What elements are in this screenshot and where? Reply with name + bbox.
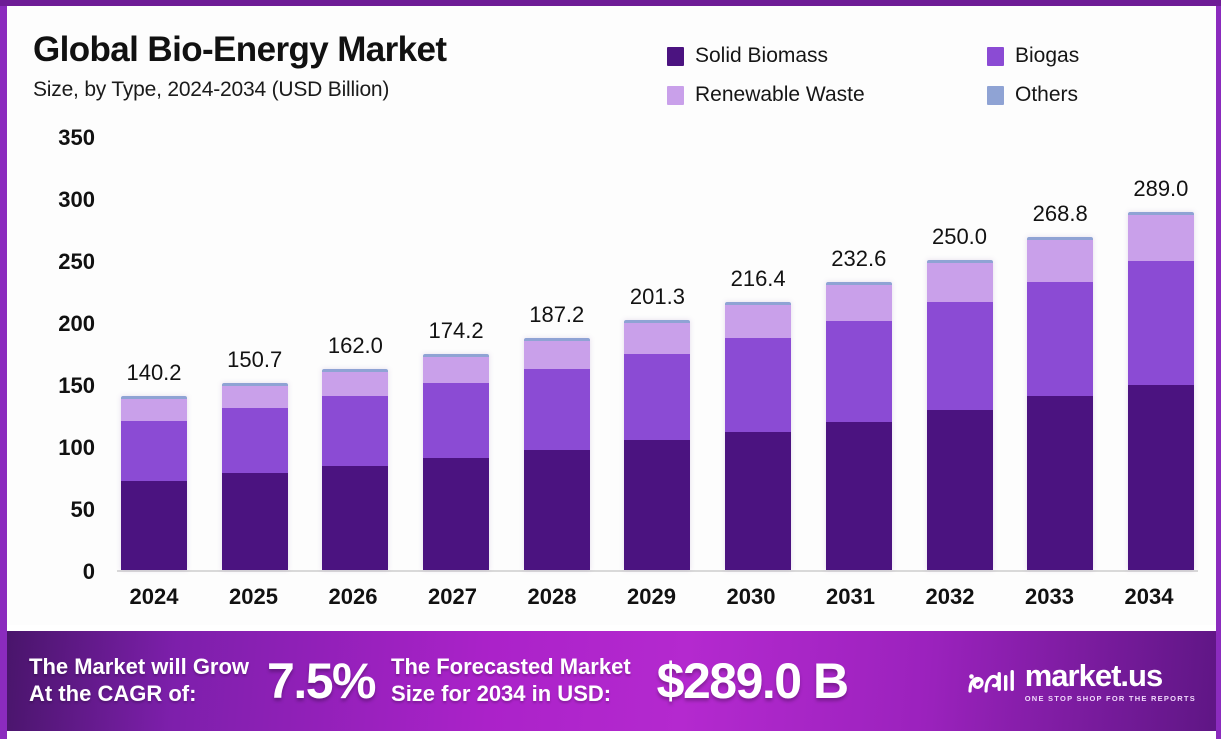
legend-label: Others <box>1015 83 1078 107</box>
bar-segment-solid-biomass[interactable] <box>322 466 388 570</box>
bar-segment-renewable-waste[interactable] <box>222 386 288 408</box>
x-axis-tick-label: 2026 <box>316 584 390 616</box>
bar-group-2033[interactable]: 268.8 <box>1023 138 1097 570</box>
x-axis-tick-label: 2031 <box>814 584 888 616</box>
bar-segment-solid-biomass[interactable] <box>927 410 993 570</box>
bar-total-label: 201.3 <box>630 284 685 310</box>
y-axis-tick-label: 0 <box>83 559 95 585</box>
legend-swatch-icon <box>987 86 1004 105</box>
bar-group-2034[interactable]: 289.0 <box>1124 138 1198 570</box>
legend-item-solid-biomass[interactable]: Solid Biomass <box>667 44 987 68</box>
bar-stack <box>524 338 590 570</box>
forecast-caption: The Forecasted Market Size for 2034 in U… <box>391 654 631 708</box>
legend-item-renewable-waste[interactable]: Renewable Waste <box>667 83 987 107</box>
bar-stack <box>826 282 892 570</box>
bar-segment-renewable-waste[interactable] <box>725 305 791 338</box>
bar-stack <box>725 302 791 570</box>
bar-segment-biogas[interactable] <box>423 383 489 458</box>
legend-swatch-icon <box>667 86 684 105</box>
bar-segment-biogas[interactable] <box>1128 261 1194 385</box>
legend-item-others[interactable]: Others <box>987 83 1207 107</box>
bar-group-2027[interactable]: 174.2 <box>419 138 493 570</box>
bar-stack <box>423 354 489 570</box>
legend-swatch-icon <box>667 47 684 66</box>
bar-segment-solid-biomass[interactable] <box>121 481 187 570</box>
y-axis-tick-label: 150 <box>58 373 95 399</box>
bar-segment-biogas[interactable] <box>927 302 993 410</box>
cagr-caption: The Market will Grow At the CAGR of: <box>29 654 249 708</box>
bar-stack <box>927 260 993 570</box>
bar-segment-solid-biomass[interactable] <box>222 473 288 570</box>
bar-segment-solid-biomass[interactable] <box>1027 396 1093 570</box>
bar-group-2030[interactable]: 216.4 <box>721 138 795 570</box>
bar-segment-renewable-waste[interactable] <box>1027 240 1093 282</box>
x-axis-tick-label: 2030 <box>714 584 788 616</box>
bar-group-2032[interactable]: 250.0 <box>923 138 997 570</box>
bar-total-label: 140.2 <box>126 360 181 386</box>
bar-segment-biogas[interactable] <box>826 321 892 422</box>
bar-stack <box>1128 212 1194 570</box>
bar-segment-solid-biomass[interactable] <box>624 440 690 570</box>
bar-group-2028[interactable]: 187.2 <box>520 138 594 570</box>
plot-area: 050100150200250300350 140.2150.7162.0174… <box>33 138 1198 572</box>
chart-subtitle: Size, by Type, 2024-2034 (USD Billion) <box>33 78 446 102</box>
x-axis-baseline <box>117 570 1198 572</box>
bar-stack <box>121 396 187 570</box>
bar-segment-solid-biomass[interactable] <box>423 458 489 570</box>
market-us-logo-icon <box>966 664 1016 698</box>
brand-tagline: ONE STOP SHOP FOR THE REPORTS <box>1025 694 1196 703</box>
forecast-caption-line2: Size for 2034 in USD: <box>391 681 611 706</box>
bar-segment-solid-biomass[interactable] <box>524 450 590 570</box>
bar-total-label: 216.4 <box>731 266 786 292</box>
bar-stack <box>624 320 690 570</box>
bar-series-group: 140.2150.7162.0174.2187.2201.3216.4232.6… <box>117 138 1198 570</box>
x-axis-tick-label: 2027 <box>416 584 490 616</box>
bar-stack <box>322 369 388 570</box>
chart-header: Global Bio-Energy Market Size, by Type, … <box>33 32 446 102</box>
bar-segment-renewable-waste[interactable] <box>121 399 187 422</box>
chart-panel: Global Bio-Energy Market Size, by Type, … <box>7 6 1216 625</box>
legend-label: Renewable Waste <box>695 83 865 107</box>
y-axis-tick-label: 250 <box>58 249 95 275</box>
bar-total-label: 162.0 <box>328 333 383 359</box>
bar-group-2029[interactable]: 201.3 <box>620 138 694 570</box>
bar-segment-biogas[interactable] <box>624 354 690 440</box>
chart-title: Global Bio-Energy Market <box>33 32 446 69</box>
left-border-stripe <box>0 0 7 739</box>
legend-label: Biogas <box>1015 44 1079 68</box>
bar-segment-biogas[interactable] <box>222 408 288 473</box>
footer-banner: The Market will Grow At the CAGR of: 7.5… <box>7 631 1216 731</box>
bar-group-2031[interactable]: 232.6 <box>822 138 896 570</box>
x-axis-tick-label: 2024 <box>117 584 191 616</box>
brand-text: market.us ONE STOP SHOP FOR THE REPORTS <box>1025 660 1196 703</box>
x-axis-tick-label: 2028 <box>515 584 589 616</box>
bar-segment-renewable-waste[interactable] <box>524 341 590 370</box>
bar-total-label: 187.2 <box>529 302 584 328</box>
brand-name: market.us <box>1025 660 1196 691</box>
bar-total-label: 150.7 <box>227 347 282 373</box>
bar-stack <box>1027 237 1093 570</box>
legend-item-biogas[interactable]: Biogas <box>987 44 1207 68</box>
bar-segment-renewable-waste[interactable] <box>826 285 892 321</box>
bar-total-label: 174.2 <box>429 318 484 344</box>
bar-total-label: 232.6 <box>831 246 886 272</box>
plot-inner: 140.2150.7162.0174.2187.2201.3216.4232.6… <box>117 138 1198 572</box>
x-axis-tick-label: 2025 <box>217 584 291 616</box>
bar-segment-biogas[interactable] <box>322 396 388 467</box>
bar-total-label: 268.8 <box>1033 201 1088 227</box>
bar-segment-biogas[interactable] <box>121 421 187 481</box>
bar-group-2024[interactable]: 140.2 <box>117 138 191 570</box>
x-axis-tick-label: 2034 <box>1112 584 1186 616</box>
legend-swatch-icon <box>987 47 1004 66</box>
cagr-caption-line1: The Market will Grow <box>29 654 249 679</box>
bar-stack <box>222 383 288 570</box>
bar-segment-renewable-waste[interactable] <box>322 372 388 396</box>
x-axis-tick-label: 2032 <box>913 584 987 616</box>
bar-segment-biogas[interactable] <box>725 338 791 432</box>
infographic-root: Global Bio-Energy Market Size, by Type, … <box>0 0 1221 739</box>
right-border-stripe <box>1216 0 1221 739</box>
bar-segment-biogas[interactable] <box>524 369 590 450</box>
bar-segment-renewable-waste[interactable] <box>1128 215 1194 261</box>
legend-label: Solid Biomass <box>695 44 828 68</box>
bar-total-label: 250.0 <box>932 224 987 250</box>
bar-segment-renewable-waste[interactable] <box>927 263 993 302</box>
x-axis-tick-label: 2033 <box>1013 584 1087 616</box>
y-axis-tick-label: 300 <box>58 187 95 213</box>
cagr-value: 7.5% <box>267 652 375 710</box>
y-axis: 050100150200250300350 <box>33 138 95 572</box>
y-axis-tick-label: 50 <box>71 497 95 523</box>
bar-segment-solid-biomass[interactable] <box>725 432 791 570</box>
bar-segment-biogas[interactable] <box>1027 282 1093 396</box>
bar-segment-solid-biomass[interactable] <box>1128 385 1194 570</box>
cagr-caption-line2: At the CAGR of: <box>29 681 196 706</box>
forecast-value: $289.0 B <box>657 652 848 710</box>
x-axis-tick-label: 2029 <box>615 584 689 616</box>
bar-segment-solid-biomass[interactable] <box>826 422 892 570</box>
bar-group-2026[interactable]: 162.0 <box>318 138 392 570</box>
bar-total-label: 289.0 <box>1133 176 1188 202</box>
brand-logo[interactable]: market.us ONE STOP SHOP FOR THE REPORTS <box>966 660 1196 703</box>
bar-segment-renewable-waste[interactable] <box>423 357 489 383</box>
bar-group-2025[interactable]: 150.7 <box>218 138 292 570</box>
y-axis-tick-label: 350 <box>58 125 95 151</box>
chart-legend: Solid BiomassBiogasRenewable WasteOthers <box>667 44 1207 107</box>
x-axis: 2024202520262027202820292030203120322033… <box>117 584 1186 616</box>
forecast-caption-line1: The Forecasted Market <box>391 654 631 679</box>
bar-segment-renewable-waste[interactable] <box>624 323 690 354</box>
y-axis-tick-label: 100 <box>58 435 95 461</box>
y-axis-tick-label: 200 <box>58 311 95 337</box>
